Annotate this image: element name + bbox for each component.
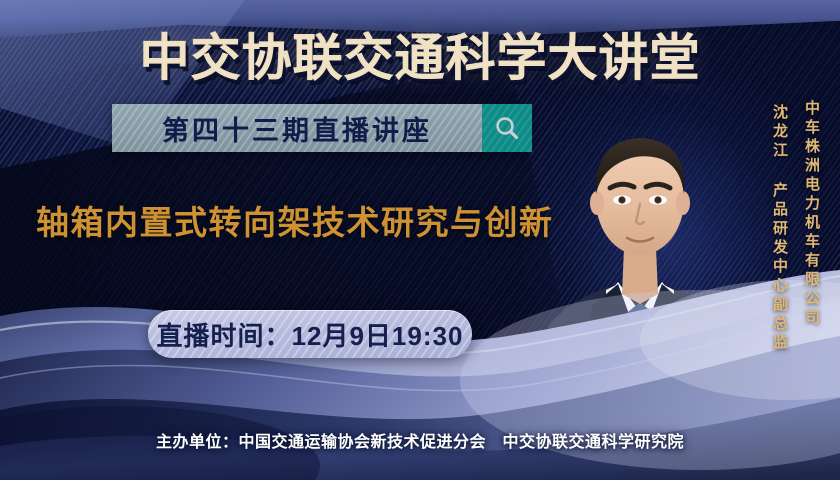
lecture-topic-title: 轴箱内置式转向架技术研究与创新 bbox=[36, 196, 554, 244]
live-lecture-poster: 中交协联交通科学大讲堂 第四十三期直播讲座 轴箱内置式转向架技术研究与创新 直播… bbox=[0, 0, 840, 480]
broadcast-time-text: 直播时间：12月9日19:30 bbox=[157, 316, 464, 353]
episode-label-container: 第四十三期直播讲座 bbox=[112, 104, 482, 152]
broadcast-time-badge: 直播时间：12月9日19:30 bbox=[148, 310, 472, 358]
page-title: 中交协联交通科学大讲堂 bbox=[0, 18, 840, 90]
search-button[interactable] bbox=[482, 104, 532, 152]
organizers-footer: 主办单位：中国交通运输协会新技术促进分会 中交协联交通科学研究院 bbox=[0, 428, 840, 452]
episode-label: 第四十三期直播讲座 bbox=[162, 109, 432, 148]
speaker-company: 中车株洲电力机车有限公司 bbox=[801, 100, 822, 328]
episode-banner: 第四十三期直播讲座 bbox=[112, 104, 532, 152]
speaker-name-title: 沈龙江 产品研发中心副总监 bbox=[769, 104, 790, 353]
search-icon bbox=[494, 115, 520, 141]
